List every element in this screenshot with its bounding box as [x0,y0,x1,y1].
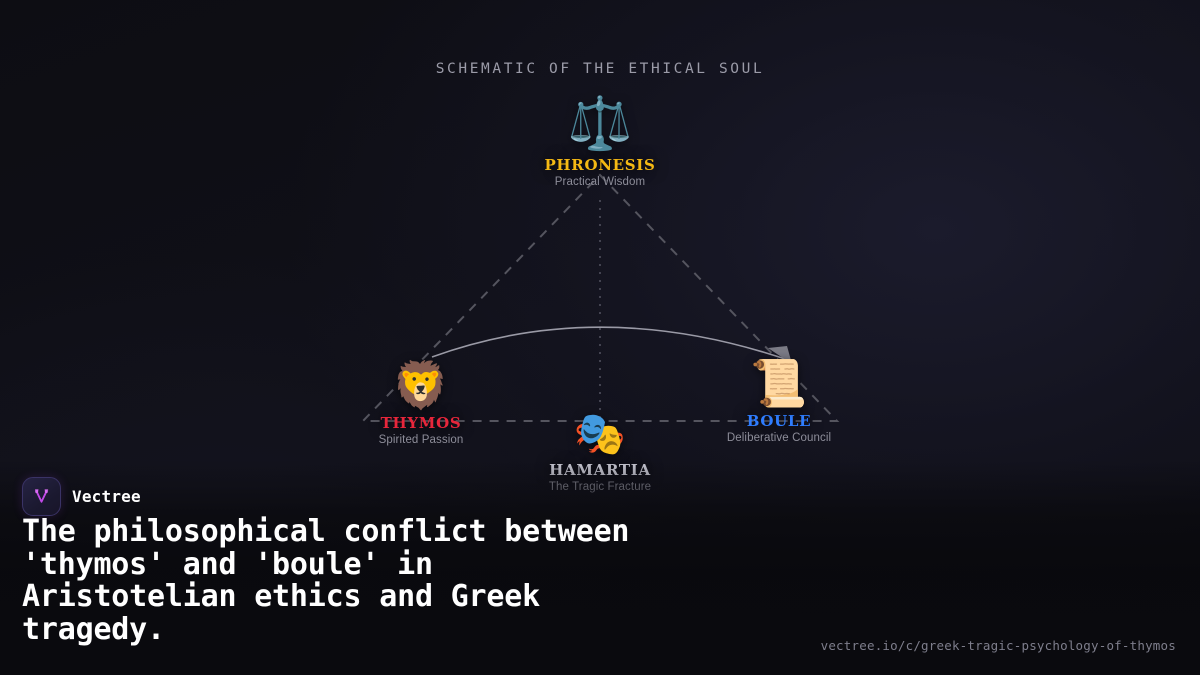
scroll-icon: 📜 [659,360,899,406]
node-phronesis-title: PHRONESIS [480,156,720,174]
share-card: SCHEMATIC OF THE ETHICAL SOUL ⚖️ PHRONES… [0,0,1200,675]
node-phronesis[interactable]: ⚖️ PHRONESIS Practical Wisdom [480,98,720,188]
performing-arts-masks-icon: 🎭 [480,413,720,455]
diagram-title: SCHEMATIC OF THE ETHICAL SOUL [0,61,1200,77]
brand-name: Vectree [72,487,141,506]
vectree-tree-logo-icon [22,477,61,516]
node-hamartia-subtitle: The Tragic Fracture [480,481,720,493]
node-hamartia[interactable]: 🎭 HAMARTIA The Tragic Fracture [480,413,720,493]
thymos-boule-arc-edge [432,327,788,360]
lion-face-icon: 🦁 [301,362,541,408]
source-url[interactable]: vectree.io/c/greek-tragic-psychology-of-… [821,638,1176,653]
balance-scale-icon: ⚖️ [480,98,720,150]
brand: Vectree [22,477,141,516]
node-hamartia-title: HAMARTIA [480,461,720,479]
headline: The philosophical conflict between 'thym… [22,516,822,646]
node-phronesis-subtitle: Practical Wisdom [480,176,720,188]
